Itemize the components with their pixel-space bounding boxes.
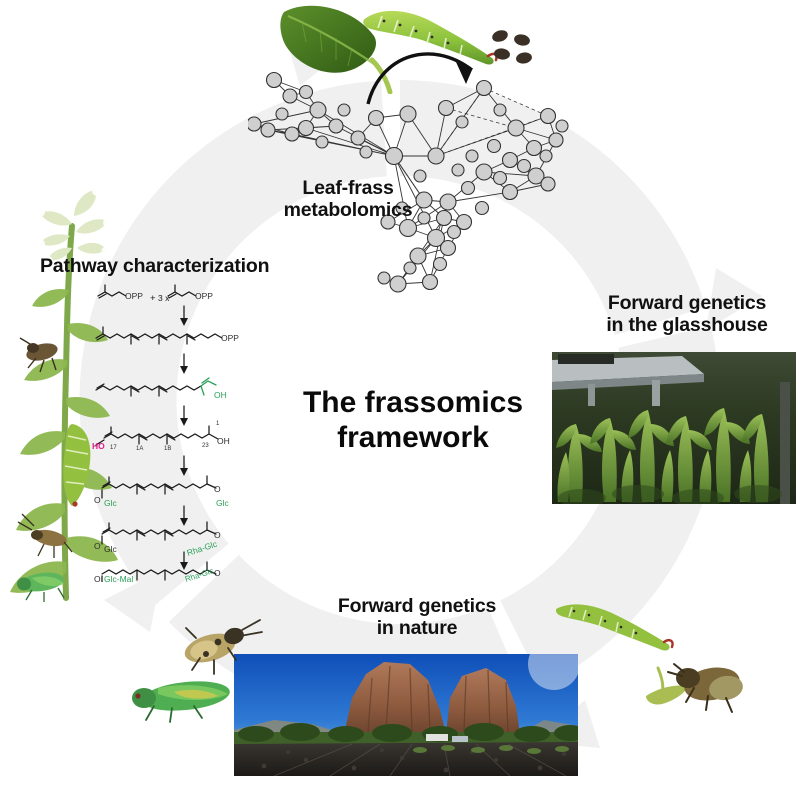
beetle-perch-stem — [646, 685, 688, 704]
oxygen-row7-left: O — [94, 574, 101, 582]
label-plus: + — [150, 293, 156, 304]
arrow-curve — [368, 54, 472, 104]
field-site-photo — [234, 654, 578, 776]
graphical-abstract-canvas: OPP + 3 x OPP OPP OH HO OH 1 17 1A 1B 23… — [0, 0, 800, 799]
label-terminal-oh: OH — [217, 436, 230, 446]
label-green-oh: OH — [214, 390, 227, 400]
beetle-right — [640, 648, 758, 718]
pathway-bonds — [96, 285, 222, 582]
label-forward-genetics-nature: Forward genetics in nature — [318, 596, 516, 640]
carbon-number-1b: 1B — [164, 446, 171, 452]
leafhopper-eye — [135, 693, 140, 698]
carbon-number-1a: 1A — [136, 446, 143, 452]
label-leaf-frass-metabolomics: Leaf-frass metabolomics — [268, 178, 428, 222]
label-opp-3: OPP — [221, 333, 239, 343]
beetle-head — [676, 668, 700, 688]
field-shed — [426, 734, 448, 741]
oxygen-row5-right: O — [214, 484, 221, 494]
glasshouse-scene — [552, 352, 796, 504]
carbon-number-17: 17 — [110, 445, 117, 451]
carbon-number-1: 1 — [216, 421, 220, 427]
glasshouse-post — [780, 382, 790, 504]
label-opp-1: OPP — [125, 291, 143, 301]
hornworm-on-plant — [63, 424, 90, 507]
label-multiplier: 3 x — [158, 293, 170, 303]
page-title: The frassomics framework — [258, 386, 568, 456]
label-glc-left: Glc — [104, 498, 118, 508]
label-rha-glc-mal-a: Rha-Glc — [184, 566, 215, 582]
oxygen-row7-right: O — [214, 568, 221, 578]
label-glc-right: Glc — [216, 498, 230, 508]
frass-production-arrow — [360, 40, 508, 108]
biosynthetic-pathway-diagram: OPP + 3 x OPP OPP OH HO OH 1 17 1A 1B 23… — [92, 282, 282, 582]
oxygen-row6-left: O — [94, 541, 101, 551]
label-glc-mal: Glc-Mal — [104, 574, 133, 582]
label-opp-2: OPP — [195, 291, 213, 301]
field-vehicle — [452, 736, 468, 742]
oxygen-row5-left: O — [94, 495, 101, 505]
label-forward-genetics-glasshouse: Forward genetics in the glasshouse — [578, 293, 796, 337]
leafhopper-left — [128, 668, 244, 724]
label-rha-glc: Rha-Glc — [186, 539, 219, 558]
carbon-number-23: 23 — [202, 443, 209, 449]
label-glc-row6: Glc — [104, 544, 118, 554]
leafhopper-head — [132, 688, 156, 708]
label-pathway-characterization: Pathway characterization — [40, 256, 322, 278]
label-magenta-ho: HO — [92, 441, 105, 451]
glasshouse-photo — [552, 352, 796, 504]
field-scene — [234, 654, 578, 776]
